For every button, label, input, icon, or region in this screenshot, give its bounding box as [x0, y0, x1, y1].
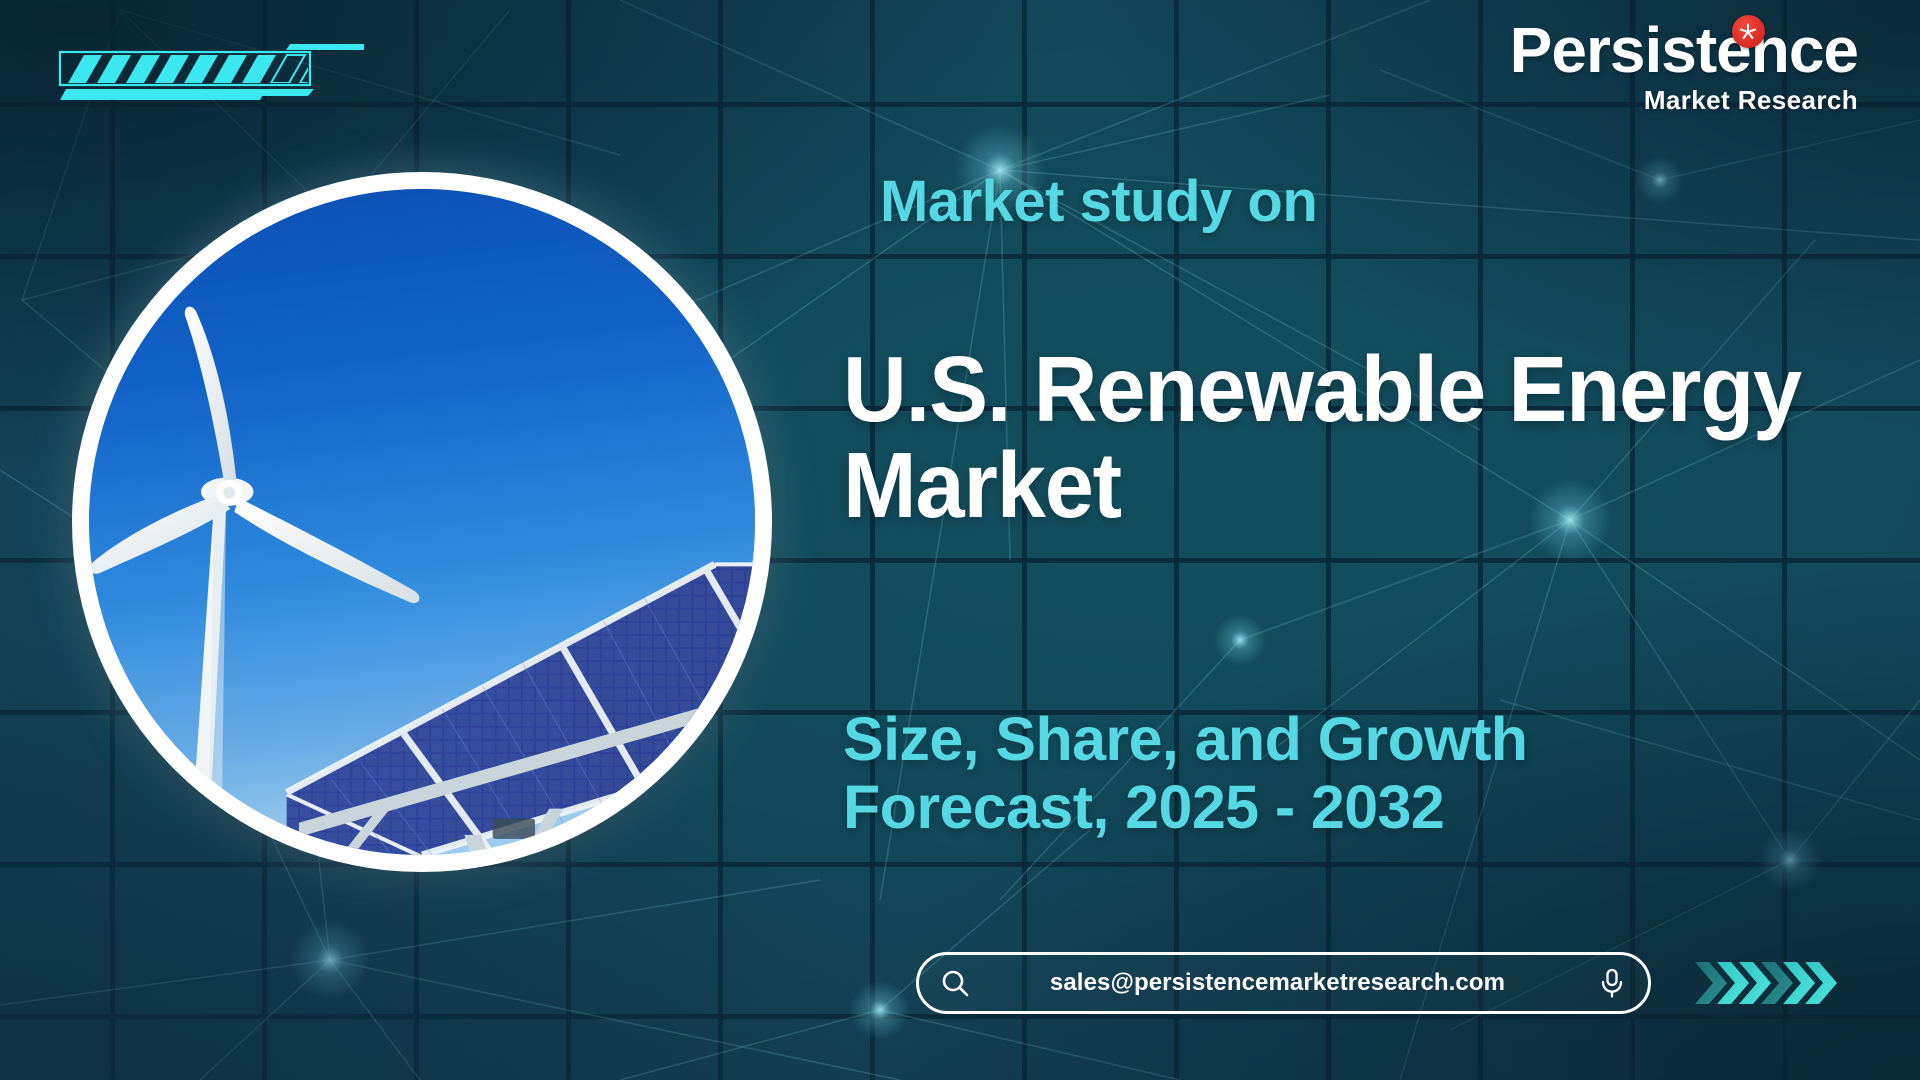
hero-eyebrow: Market study on	[880, 168, 1317, 235]
double-chevron-right-icon	[1693, 952, 1853, 1014]
brand-name: Persistence	[1510, 18, 1858, 82]
microphone-icon[interactable]	[1576, 968, 1648, 998]
brand-tagline: Market Research	[1510, 87, 1858, 113]
wind-turbine-and-solar-panels-photo	[89, 189, 755, 855]
search-icon[interactable]	[919, 968, 991, 999]
banner-canvas: Persistence Market Research	[0, 0, 1920, 1080]
search-bar[interactable]: sales@persistencemarketresearch.com	[916, 952, 1651, 1014]
page-title: U.S. Renewable Energy Market	[843, 342, 1812, 534]
page-title-line-1: U.S. Renewable Energy	[843, 342, 1812, 438]
page-subtitle: Size, Share, and Growth Forecast, 2025 -…	[843, 705, 1743, 842]
red-star-dot-icon	[1732, 15, 1765, 48]
page-subtitle-line-2: Forecast, 2025 - 2032	[843, 773, 1743, 841]
page-title-line-2: Market	[843, 438, 1812, 534]
brand-logo[interactable]: Persistence Market Research	[1510, 18, 1858, 113]
brand-name-text: Persistence	[1510, 14, 1858, 86]
page-subtitle-line-1: Size, Share, and Growth	[843, 705, 1743, 773]
hero-photo-frame	[72, 172, 772, 872]
search-input[interactable]: sales@persistencemarketresearch.com	[985, 969, 1570, 997]
loading-bar-graphic	[54, 44, 364, 106]
